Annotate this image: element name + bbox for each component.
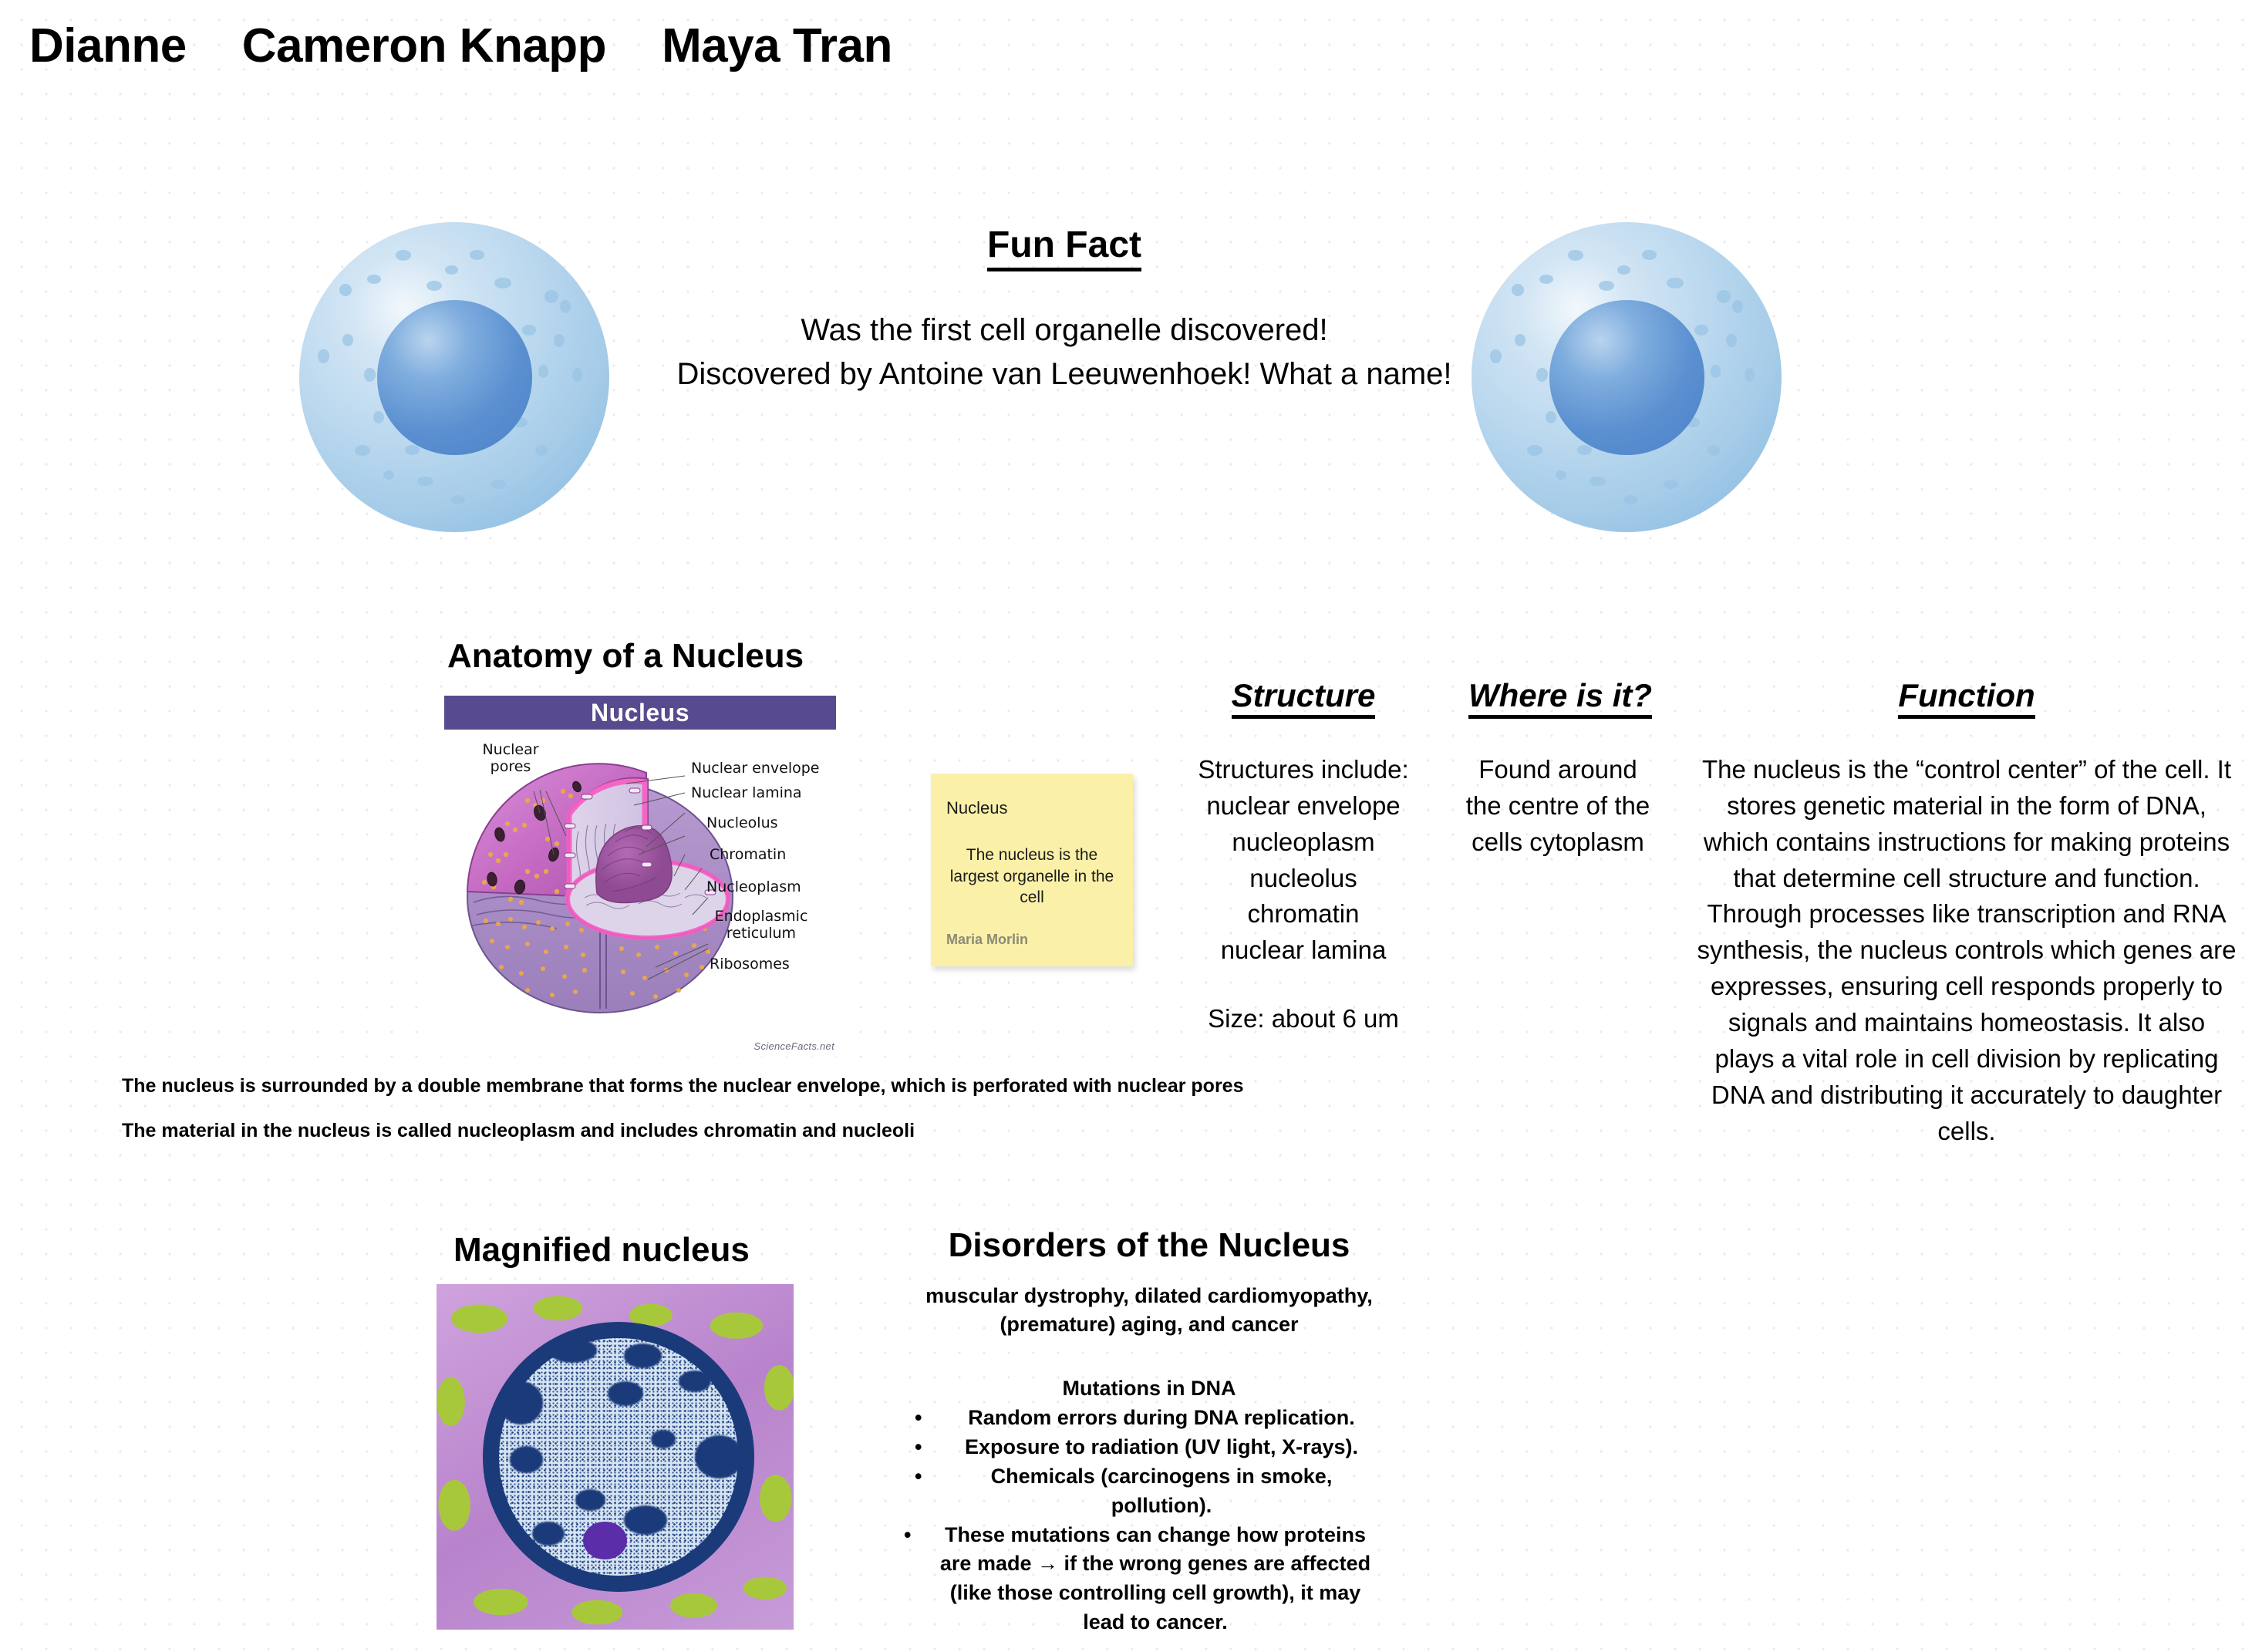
diagram-label-er-line1: Endoplasmic [703,909,819,925]
fun-fact-body: Was the first cell organelle discovered!… [609,308,1519,396]
structure-item-0: nuclear envelope [1188,788,1419,824]
disorders-bullet-item: • Exposure to radiation (UV light, X-ray… [895,1433,1404,1462]
structure-body: Structures include: nuclear envelope nuc… [1188,752,1419,1037]
disorders-block: Disorders of the Nucleus muscular dystro… [895,1226,1404,1637]
disorders-heading: Disorders of the Nucleus [895,1226,1404,1265]
bullet-glyph-icon: • [915,1433,922,1462]
statement-nucleoplasm: The material in the nucleus is called nu… [122,1120,915,1142]
cell-illustration-left [299,222,609,532]
diagram-label-chromatin: Chromatin [710,847,786,864]
diagram-label-ribosomes: Ribosomes [710,956,790,973]
fun-fact-line-1: Was the first cell organelle discovered! [609,308,1519,352]
author-name-2: Cameron Knapp [242,19,606,73]
where-heading: Where is it? [1448,677,1672,719]
poster-canvas: Dianne Cameron Knapp Maya Tran [0,0,2252,1652]
magnified-nucleus-heading: Magnified nucleus [453,1231,750,1269]
nucleus-anatomy-diagram: Nucleus [438,694,842,1057]
cell-nucleus-left [377,300,532,455]
nucleus-cutaway-illustration [453,739,747,1024]
diagram-label-nuclear-lamina: Nuclear lamina [691,785,802,802]
structure-heading-text: Structure [1232,677,1376,719]
disorders-subheading: Mutations in DNA [895,1377,1404,1401]
structure-size: Size: about 6 um [1188,1001,1419,1037]
diagram-label-nuclear-pores: Nuclear pores [470,742,551,776]
bullet-glyph-icon: • [904,1521,911,1550]
poster-title-authors: Dianne Cameron Knapp Maya Tran [29,19,892,73]
sticky-note-title: Nucleus [946,798,1007,818]
disorders-bullet-text: Exposure to radiation (UV light, X-rays)… [965,1435,1358,1458]
disorders-bullet-list: • Random errors during DNA replication. … [895,1404,1404,1637]
function-heading-text: Function [1898,677,2035,719]
cell-cytoplasm-left [299,222,609,532]
disorders-bullet-text: Chemicals (carcinogens in smoke, polluti… [991,1465,1333,1517]
diagram-label-nuclear-pores-line2: pores [470,759,551,776]
structure-heading: Structure [1215,677,1392,719]
sticky-note-author: Maria Morlin [946,932,1028,948]
diagram-label-nuclear-envelope: Nuclear envelope [691,760,819,777]
fun-fact-heading: Fun Fact [987,224,1141,271]
sticky-note[interactable]: Nucleus The nucleus is the largest organ… [931,774,1133,966]
statement-double-membrane: The nucleus is surrounded by a double me… [122,1075,1243,1097]
magnified-nucleus-image [437,1284,794,1630]
disorders-bullet-item: • These mutations can change how protein… [895,1521,1404,1637]
diagram-watermark: ScienceFacts.net [753,1040,834,1052]
diagram-label-nuclear-pores-line1: Nuclear [470,742,551,759]
where-heading-text: Where is it? [1468,677,1652,719]
disorders-lead-text: muscular dystrophy, dilated cardiomyopat… [895,1282,1404,1338]
author-name-1: Dianne [29,19,187,73]
diagram-label-nucleolus: Nucleolus [706,815,778,832]
sticky-note-body: The nucleus is the largest organelle in … [942,845,1122,909]
author-name-3: Maya Tran [662,19,892,73]
disorders-bullet-item: • Chemicals (carcinogens in smoke, pollu… [895,1462,1404,1521]
diagram-label-er-line2: reticulum [703,925,819,942]
where-body: Found around the centre of the cells cyt… [1458,752,1658,861]
bullet-glyph-icon: • [915,1462,922,1492]
bullet-glyph-icon: • [915,1404,922,1433]
anatomy-heading: Anatomy of a Nucleus [447,637,804,676]
fun-fact-line-2: Discovered by Antoine van Leeuwenhoek! W… [609,352,1519,396]
function-body: The nucleus is the “control center” of t… [1697,752,2237,1149]
structure-item-2: nucleolus [1188,861,1419,897]
structure-intro: Structures include: [1188,752,1419,788]
diagram-banner-title: Nucleus [444,696,836,730]
function-heading: Function [1847,677,2086,719]
micro-nucleus-body [483,1322,754,1591]
cell-nucleus-right [1549,300,1704,455]
structure-item-4: nuclear lamina [1188,932,1419,969]
diagram-label-endoplasmic-reticulum: Endoplasmic reticulum [703,909,819,942]
fun-fact-block: Fun Fact Was the first cell organelle di… [609,224,1519,396]
disorders-bullet-text: Random errors during DNA replication. [968,1406,1355,1429]
diagram-label-nucleoplasm: Nucleoplasm [706,879,801,896]
structure-item-1: nucleoplasm [1188,824,1419,861]
structure-item-3: chromatin [1188,896,1419,932]
micro-nucleolus [583,1522,626,1559]
disorders-bullet-text: These mutations can change how proteins … [940,1523,1370,1633]
disorders-bullet-item: • Random errors during DNA replication. [895,1404,1404,1433]
